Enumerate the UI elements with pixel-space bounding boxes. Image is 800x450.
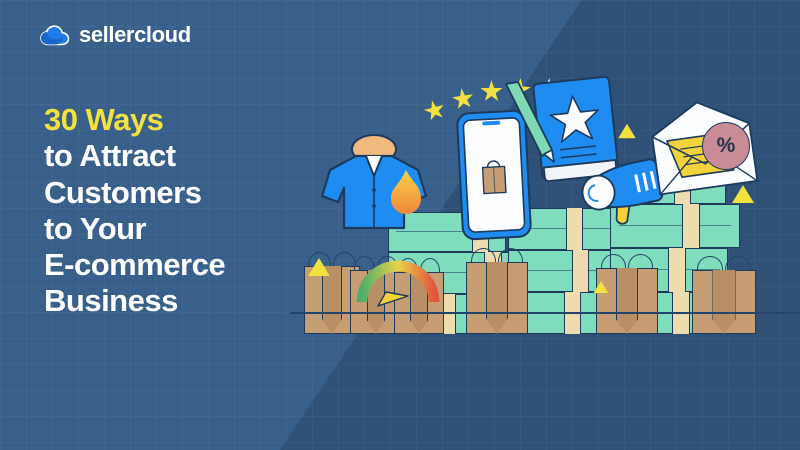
triangle-accent-icon bbox=[593, 281, 608, 294]
headline-line-6: Business bbox=[44, 283, 225, 319]
brand-logo[interactable]: sellercloud bbox=[40, 22, 191, 48]
flame-icon bbox=[388, 168, 424, 216]
page-title: 30 Ways to Attract Customers to Your E-c… bbox=[44, 102, 225, 320]
headline-line-2: to Attract bbox=[44, 138, 225, 174]
headline-line-1: 30 Ways bbox=[44, 102, 225, 138]
shopping-bag bbox=[692, 256, 756, 334]
headline-line-4: to Your bbox=[44, 211, 225, 247]
rating-star bbox=[451, 87, 476, 112]
rating-star bbox=[422, 98, 447, 123]
discount-badge: % bbox=[702, 122, 750, 170]
headline-line-3: Customers bbox=[44, 175, 225, 211]
poster-canvas: sellercloud 30 Ways to Attract Customers… bbox=[0, 0, 800, 450]
triangle-accent-icon bbox=[308, 258, 330, 276]
pencil-icon bbox=[500, 80, 564, 166]
shopping-bag bbox=[596, 254, 658, 334]
triangle-accent-icon bbox=[618, 124, 636, 138]
shopping-bag bbox=[466, 248, 528, 334]
hero-illustration: % bbox=[280, 60, 800, 390]
headline-line-5: E-commerce bbox=[44, 247, 225, 283]
gauge-icon bbox=[356, 256, 440, 308]
brand-name: sellercloud bbox=[79, 22, 191, 48]
triangle-accent-icon bbox=[732, 185, 754, 203]
cloud-icon bbox=[40, 25, 70, 46]
ground-line bbox=[290, 312, 800, 314]
